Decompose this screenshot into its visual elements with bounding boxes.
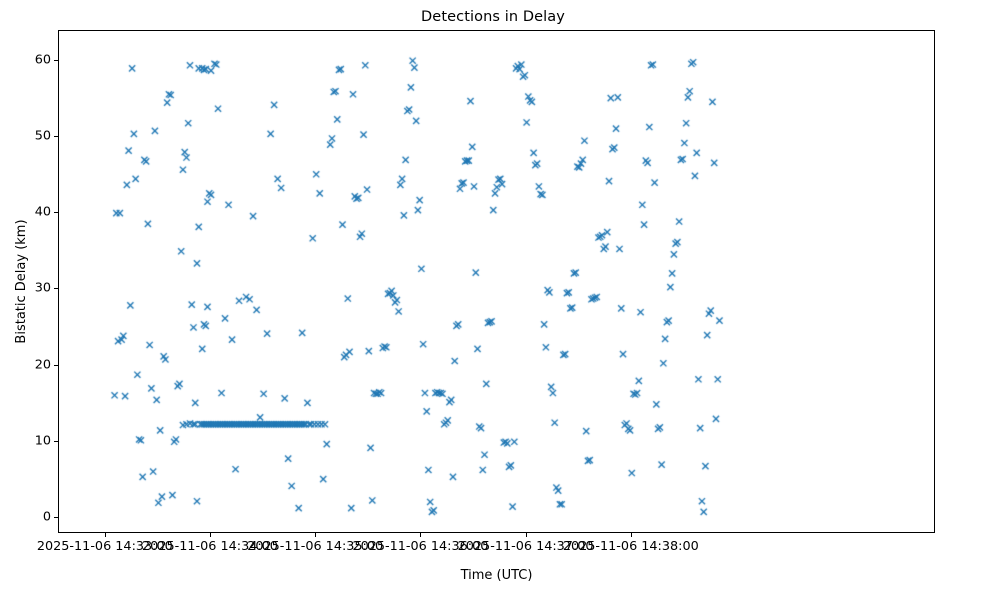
x-axis-tick-mark [526,533,527,537]
x-axis-tick-mark [315,533,316,537]
x-axis-tick-mark [420,533,421,537]
x-axis-tick-mark [210,533,211,537]
y-axis-tick-mark [54,517,58,518]
x-axis-tick-label: 2025-11-06 14:38:00 [563,539,699,554]
scatter-plot-canvas [59,31,936,534]
x-axis-tick-mark [631,533,632,537]
y-axis-tick-mark [54,365,58,366]
x-axis-label: Time (UTC) [58,568,935,583]
y-axis-tick-mark [54,441,58,442]
plot-axes [58,30,935,533]
y-axis-tick-mark [54,288,58,289]
matplotlib-figure: Detections in Delay 0102030405060 Bistat… [0,0,986,590]
chart-title: Detections in Delay [0,9,986,25]
y-axis-tick-mark [54,212,58,213]
y-axis-tick-mark [54,136,58,137]
x-axis-tick-mark [105,533,106,537]
y-axis-label: Bistatic Delay (km) [14,30,32,533]
y-axis-tick-mark [54,60,58,61]
